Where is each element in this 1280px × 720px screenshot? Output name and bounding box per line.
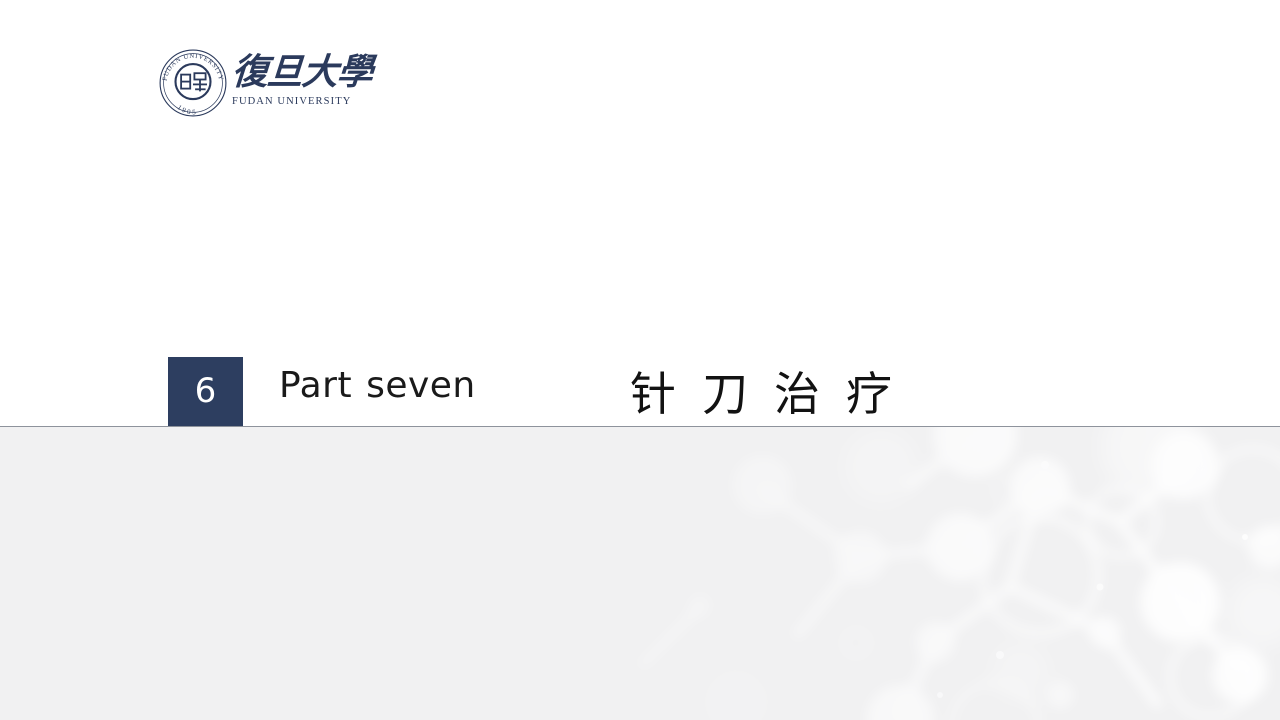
presentation-slide: FUDAN UNIVERSITY 1905 復旦大學 FUDAN UNIVER	[0, 0, 1280, 720]
fudan-university-logo: FUDAN UNIVERSITY 1905 復旦大學 FUDAN UNIVER	[158, 48, 358, 130]
section-number-badge: 6	[168, 357, 243, 426]
fudan-seal-icon: FUDAN UNIVERSITY 1905	[158, 48, 228, 118]
svg-text:1905: 1905	[176, 103, 198, 116]
part-ordinal: seven	[366, 365, 476, 406]
fudan-wordmark: 復旦大學 FUDAN UNIVERSITY	[232, 50, 360, 107]
section-title-chinese: 针刀治疗	[630, 358, 918, 424]
part-label: Partseven	[279, 365, 476, 406]
svg-text:FUDAN UNIVERSITY: FUDAN UNIVERSITY	[162, 53, 225, 82]
slide-lower-section: 第六章 6.1研究背景 6.2研究意义	[0, 427, 1280, 720]
wordmark-chinese: 復旦大學	[230, 50, 361, 94]
part-word: Part	[279, 365, 352, 406]
wordmark-english: FUDAN UNIVERSITY	[232, 96, 360, 107]
molecular-background-pattern	[0, 427, 1280, 720]
slide-upper-section: FUDAN UNIVERSITY 1905 復旦大學 FUDAN UNIVER	[0, 0, 1280, 426]
section-number-label: 6	[168, 371, 243, 411]
